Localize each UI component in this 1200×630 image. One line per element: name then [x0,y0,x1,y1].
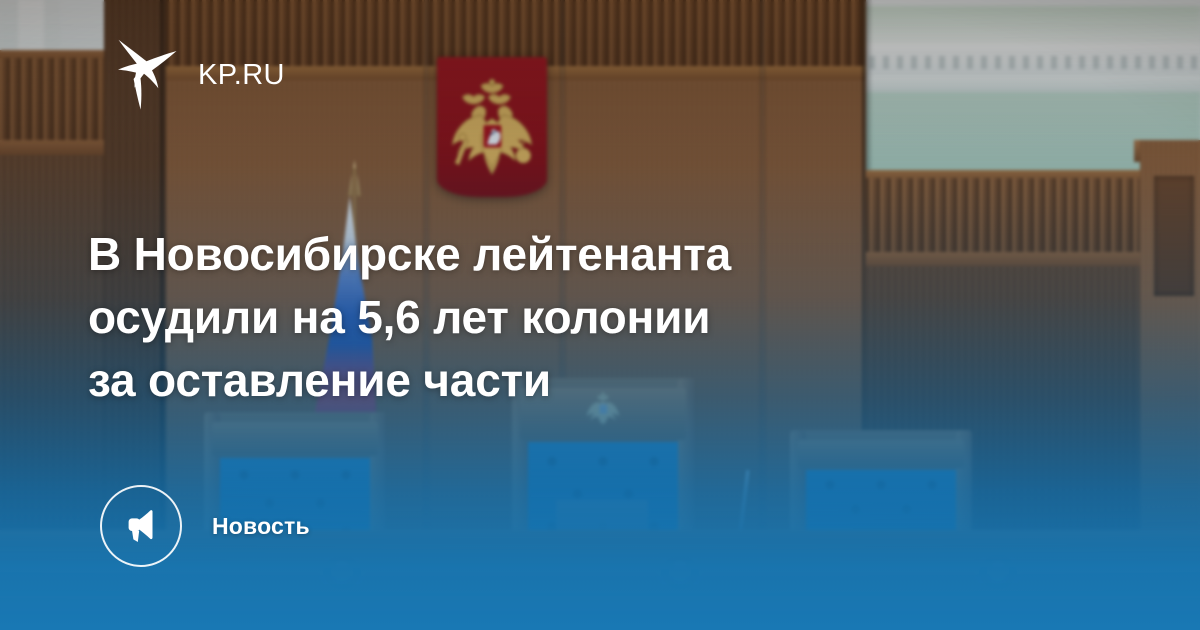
brand-logo-text: KP.RU [198,61,285,90]
bench-rosette-center [660,552,700,592]
swallow-bird-icon [108,38,180,112]
pilaster-right-inset-panel [1154,176,1194,296]
category-badge[interactable]: Новость [100,485,310,567]
ceiling-cornice-lower [855,76,1200,92]
russian-double-headed-eagle-icon [437,72,547,184]
railing-left-slats [0,58,108,142]
page-title: В Новосибирске лейтенанта осудили на 5,6… [88,223,988,412]
ceiling-band [860,6,1200,46]
brand-logo[interactable]: KP.RU [108,38,285,112]
bench-rosette-left [322,552,362,592]
news-share-card: KP.RU В Новосибирске лейтенанта осудили … [0,0,1200,630]
megaphone-icon [100,485,182,567]
headline-line-3: за оставление части [88,349,988,412]
category-badge-label: Новость [212,513,310,540]
railing-left-base [0,140,108,156]
cornice-dentil-moulding [855,56,1200,69]
bench-rosette-right [978,552,1018,592]
bench-moulding [0,596,1200,606]
headline-line-2: осудили на 5,6 лет колонии [88,286,988,349]
headline-line-1: В Новосибирске лейтенанта [88,223,988,286]
